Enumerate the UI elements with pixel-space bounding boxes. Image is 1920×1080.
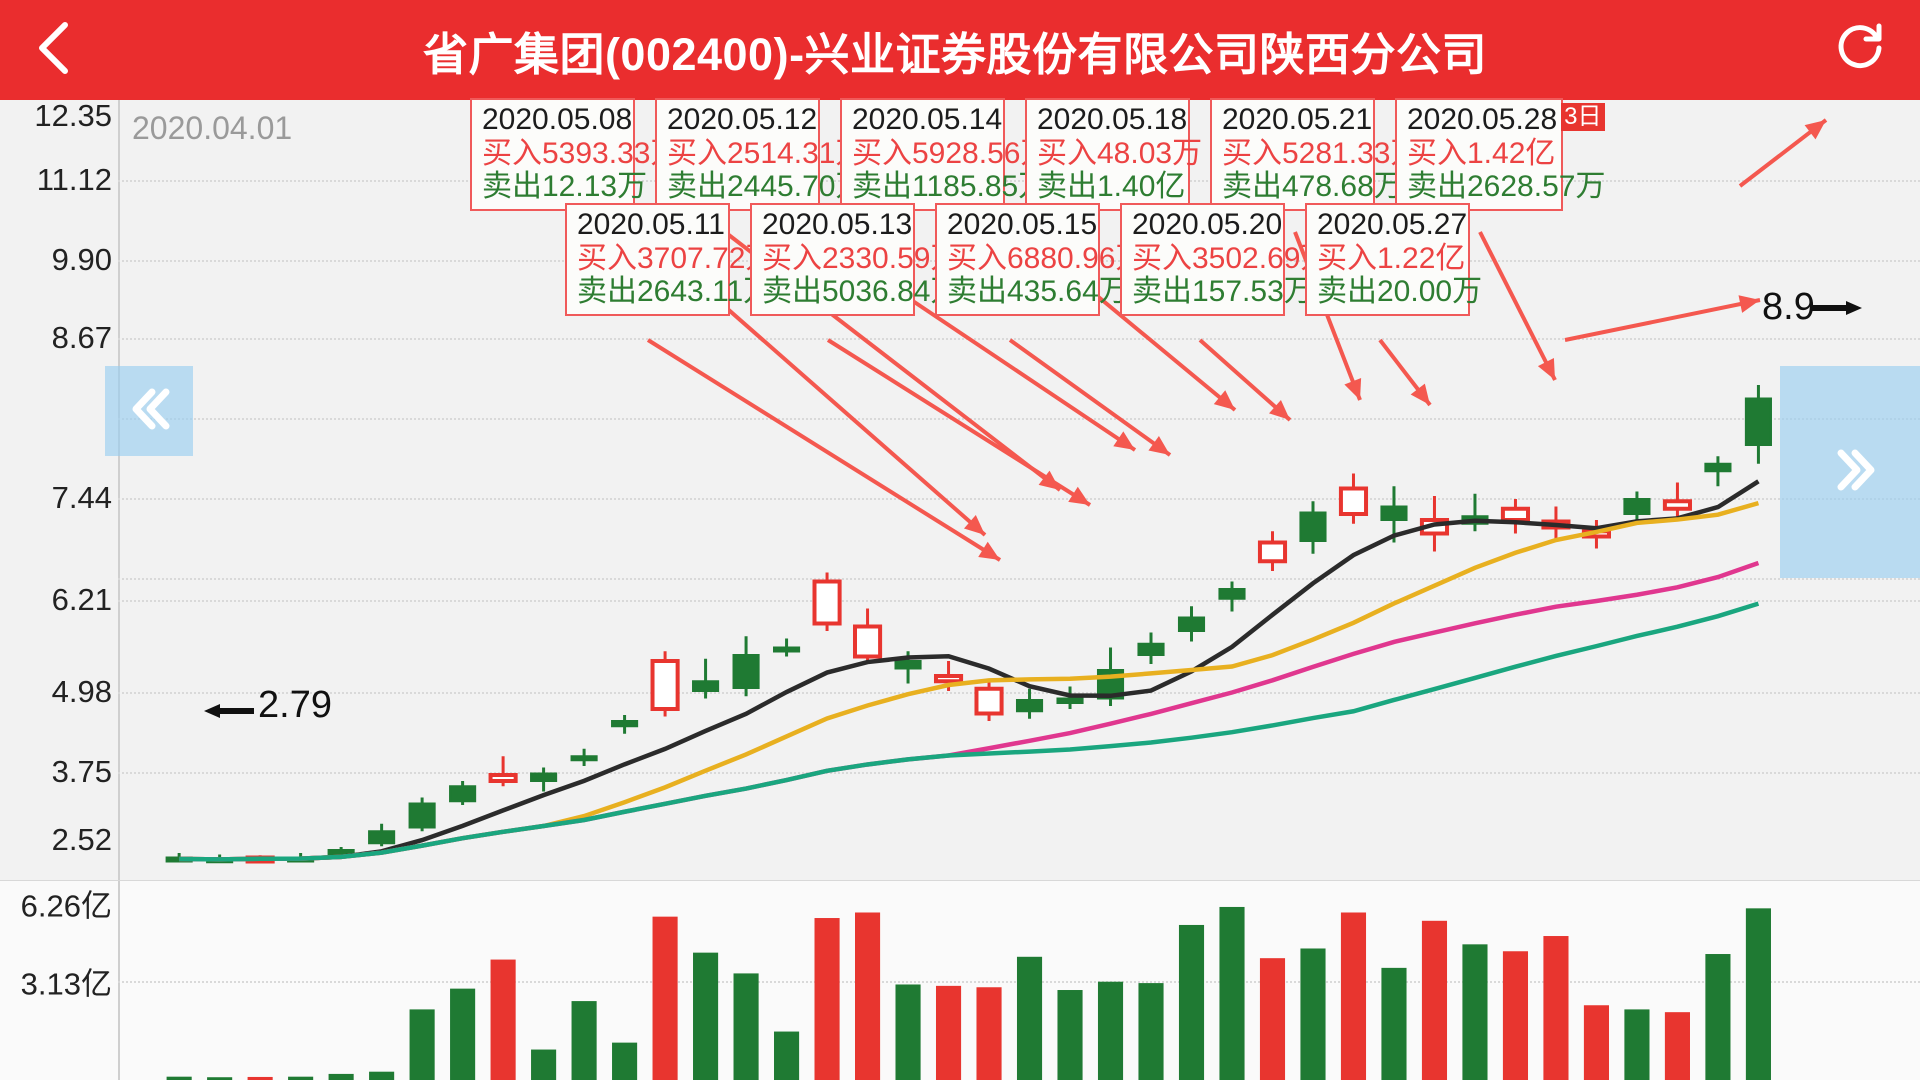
page-title: 省广集团(002400)-兴业证券股份有限公司陕西分公司	[110, 18, 1800, 83]
annotation-date: 2020.05.27	[1317, 208, 1458, 242]
refresh-button[interactable]	[1800, 0, 1920, 100]
annotation-buy-amount: 买入5393.33万	[482, 137, 623, 171]
price-axis: 12.35 11.12 9.90 8.67 7.44 6.21 4.98 3.7…	[0, 100, 118, 880]
annotation-sell-amount: 卖出12.13万	[482, 170, 623, 204]
annotation-callout-row1[interactable]: 2020.05.283日买入1.42亿卖出2628.57万	[1395, 98, 1563, 211]
annotation-sell-amount: 卖出20.00万	[1317, 275, 1458, 309]
back-button[interactable]	[0, 0, 110, 100]
annotation-sell-amount: 卖出2445.70万	[667, 170, 808, 204]
price-tick: 3.75	[52, 754, 118, 790]
annotation-date: 2020.05.18	[1037, 103, 1178, 137]
volume-plot-region[interactable]	[118, 881, 1920, 1080]
annotation-buy-amount: 买入5928.56万	[852, 137, 993, 171]
annotation-buy-amount: 买入1.42亿	[1407, 137, 1551, 171]
annotation-date: 2020.05.20	[1132, 208, 1273, 242]
price-tick: 4.98	[52, 674, 118, 710]
price-tick: 6.21	[52, 582, 118, 618]
volume-axis: 6.26亿 3.13亿	[0, 881, 118, 1080]
double-chevron-left-icon	[118, 378, 180, 445]
chart-start-date: 2020.04.01	[132, 110, 292, 147]
scroll-left-button[interactable]	[105, 366, 193, 456]
annotation-sell-amount: 卖出478.68万	[1222, 170, 1363, 204]
annotation-sell-amount: 卖出5036.84万	[762, 275, 903, 309]
volume-tick: 3.13亿	[21, 959, 118, 1004]
refresh-icon	[1836, 22, 1884, 79]
annotation-buy-amount: 买入48.03万	[1037, 137, 1178, 171]
double-chevron-right-icon	[1819, 439, 1881, 506]
annotation-buy-amount: 买入2514.31万	[667, 137, 808, 171]
price-tick: 8.67	[52, 320, 118, 356]
annotation-callout-row2[interactable]: 2020.05.15买入6880.96万卖出435.64万	[935, 203, 1100, 316]
annotation-sell-amount: 卖出1.40亿	[1037, 170, 1178, 204]
price-tick: 12.35	[34, 98, 118, 134]
annotation-buy-amount: 买入3707.72万	[577, 242, 718, 276]
annotation-buy-amount: 买入5281.33万	[1222, 137, 1363, 171]
annotation-callout-row1[interactable]: 2020.05.14买入5928.56万卖出1185.85万	[840, 98, 1005, 211]
annotation-date: 2020.05.14	[852, 103, 993, 137]
high-price-marker: 8.9	[1762, 286, 1815, 329]
annotation-sell-amount: 卖出1185.85万	[852, 170, 993, 204]
low-price-marker: 2.79	[258, 684, 332, 727]
volume-tick: 6.26亿	[21, 881, 118, 926]
annotation-date: 2020.05.21	[1222, 103, 1363, 137]
period-badge: 3日	[1561, 103, 1604, 131]
chevron-left-icon	[32, 19, 78, 82]
price-tick: 2.52	[52, 822, 118, 858]
annotation-buy-amount: 买入3502.69万	[1132, 242, 1273, 276]
annotation-callout-row2[interactable]: 2020.05.27买入1.22亿卖出20.00万	[1305, 203, 1470, 316]
annotation-date: 2020.05.283日	[1407, 103, 1551, 137]
annotation-buy-amount: 买入2330.59万	[762, 242, 903, 276]
annotation-date: 2020.05.13	[762, 208, 903, 242]
volume-chart-panel[interactable]: 6.26亿 3.13亿	[0, 880, 1920, 1080]
annotation-callout-row1[interactable]: 2020.05.08买入5393.33万卖出12.13万	[470, 98, 635, 211]
annotation-date: 2020.05.11	[577, 208, 718, 242]
annotation-sell-amount: 卖出2628.57万	[1407, 170, 1551, 204]
annotation-callout-row1[interactable]: 2020.05.18买入48.03万卖出1.40亿	[1025, 98, 1190, 211]
app-header: 省广集团(002400)-兴业证券股份有限公司陕西分公司	[0, 0, 1920, 100]
annotation-sell-amount: 卖出2643.11万	[577, 275, 718, 309]
annotation-buy-amount: 买入6880.96万	[947, 242, 1088, 276]
annotation-date: 2020.05.15	[947, 208, 1088, 242]
price-tick: 11.12	[37, 162, 118, 198]
price-tick: 7.44	[52, 480, 118, 516]
annotation-callout-row2[interactable]: 2020.05.20买入3502.69万卖出157.53万	[1120, 203, 1285, 316]
annotation-date: 2020.05.12	[667, 103, 808, 137]
price-tick: 9.90	[52, 242, 118, 278]
annotation-callout-row1[interactable]: 2020.05.12买入2514.31万卖出2445.70万	[655, 98, 820, 211]
annotation-date: 2020.05.08	[482, 103, 623, 137]
annotation-callout-row2[interactable]: 2020.05.11买入3707.72万卖出2643.11万	[565, 203, 730, 316]
annotation-buy-amount: 买入1.22亿	[1317, 242, 1458, 276]
annotation-callout-row1[interactable]: 2020.05.21买入5281.33万卖出478.68万	[1210, 98, 1375, 211]
scroll-right-button[interactable]	[1780, 366, 1920, 578]
annotation-callout-row2[interactable]: 2020.05.13买入2330.59万卖出5036.84万	[750, 203, 915, 316]
annotation-sell-amount: 卖出157.53万	[1132, 275, 1273, 309]
annotation-sell-amount: 卖出435.64万	[947, 275, 1088, 309]
